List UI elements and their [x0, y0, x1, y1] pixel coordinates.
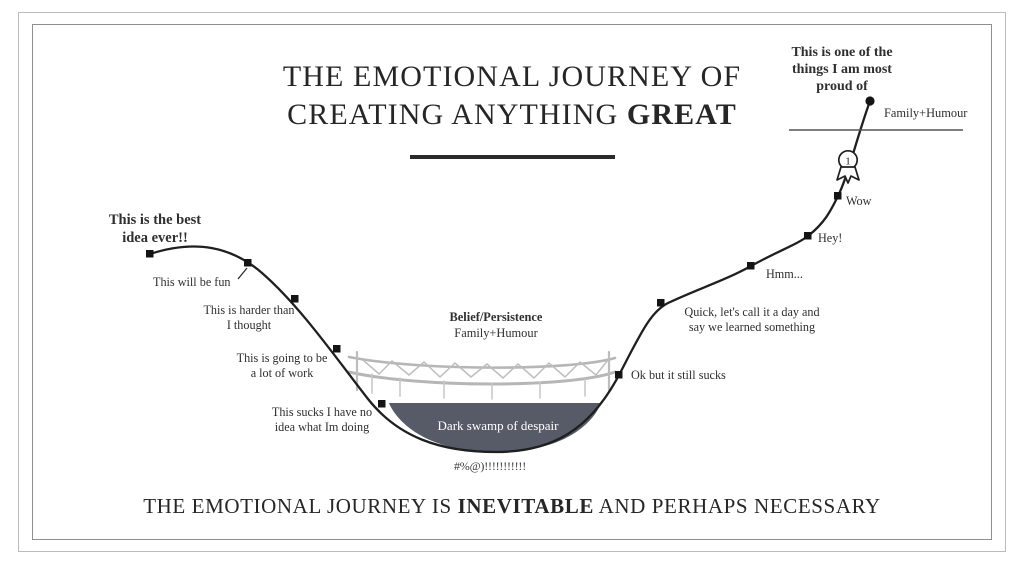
journey-label-this-sucks: This sucks I have no idea what Im doing	[266, 405, 378, 435]
callout-most-proud: This is one of the things I am most prou…	[780, 44, 904, 95]
tagline-bold: INEVITABLE	[458, 494, 594, 518]
marker-this-is-harder	[291, 295, 299, 303]
title-line-2-bold: GREAT	[627, 98, 737, 131]
label-family-humour-bridge: Family+Humour	[432, 326, 560, 341]
bridge-bottom-chord	[349, 372, 615, 384]
marker-ok-but-still-sucks	[615, 371, 623, 379]
poster-canvas: 1 THE EMOTIONAL JOURNEY OF CREATING ANYT…	[0, 0, 1024, 564]
marker-this-will-be-fun	[244, 259, 252, 267]
journey-label-hmm: Hmm...	[766, 267, 803, 282]
tagline-part-1: THE EMOTIONAL JOURNEY IS	[143, 494, 457, 518]
journey-label-ok-but-still-sucks: Ok but it still sucks	[631, 368, 726, 383]
title-line-2: CREATING ANYTHING GREAT	[0, 98, 1024, 132]
label-dark-swamp-of-despair: Dark swamp of despair	[398, 418, 598, 434]
label-belief-persistence: Belief/Persistence	[432, 310, 560, 325]
journey-label-call-it-a-day: Quick, let's call it a day and say we le…	[672, 305, 832, 335]
marker-hey	[804, 232, 812, 240]
title-line-1: THE EMOTIONAL JOURNEY OF	[283, 60, 741, 93]
leader-line-this-will-be-fun	[238, 268, 247, 279]
journey-label-this-is-harder: This is harder than I thought	[199, 303, 299, 333]
emotional-journey-curve	[150, 101, 870, 452]
journey-label-hey: Hey!	[818, 231, 842, 246]
award-ribbon-number: 1	[845, 156, 851, 168]
marker-wow	[834, 192, 842, 200]
marker-start	[146, 250, 154, 258]
bridge-structure	[349, 357, 615, 384]
tagline-part-2: AND PERHAPS NECESSARY	[594, 494, 881, 518]
page-tagline: THE EMOTIONAL JOURNEY IS INEVITABLE AND …	[0, 494, 1024, 519]
marker-lot-of-work	[333, 345, 341, 353]
marker-this-sucks	[378, 400, 386, 408]
bridge-hangers	[372, 374, 585, 399]
journey-label-wow: Wow	[846, 194, 871, 209]
label-family-humour-top: Family+Humour	[884, 106, 967, 121]
illustration-stage: 1 THE EMOTIONAL JOURNEY OF CREATING ANYT…	[0, 0, 1024, 564]
marker-hmm	[747, 262, 755, 270]
title-divider-rule	[410, 155, 615, 159]
journey-label-this-will-be-fun: This will be fun	[153, 275, 231, 290]
marker-call-it-a-day	[657, 299, 665, 307]
label-censored-expletive: #%@)!!!!!!!!!!!	[430, 459, 550, 474]
journey-label-lot-of-work: This is going to be a lot of work	[233, 351, 331, 381]
callout-best-idea: This is the best idea ever!!	[96, 212, 214, 247]
title-line-2-normal: CREATING ANYTHING	[287, 98, 627, 131]
